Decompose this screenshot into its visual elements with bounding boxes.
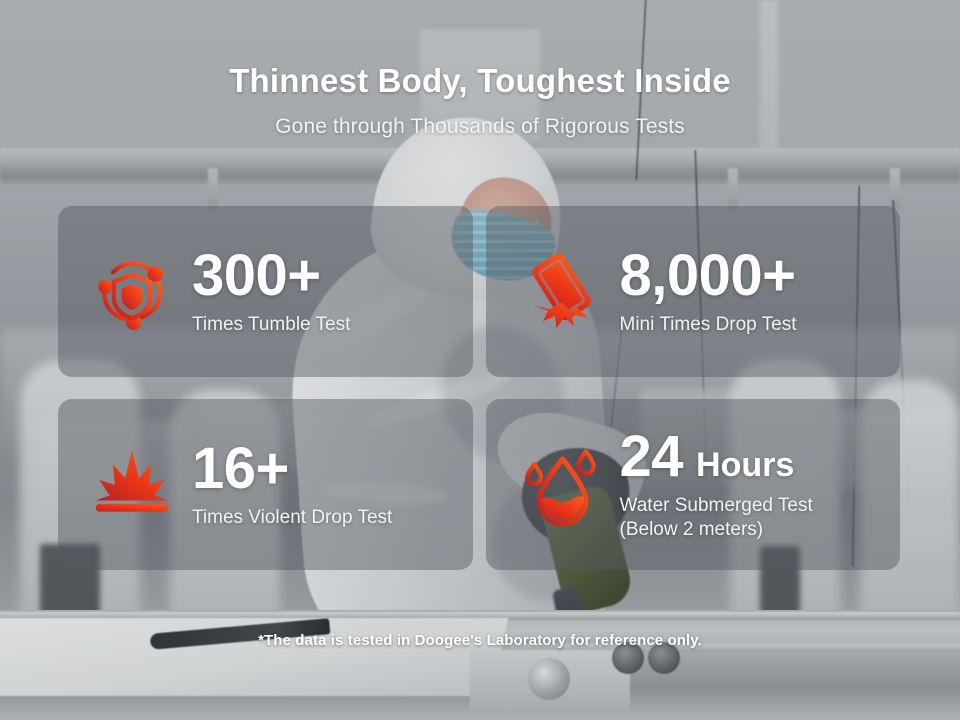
stat-card-violent-drop-test: 16+ Times Violent Drop Test <box>58 399 473 570</box>
stat-text: 16+ Times Violent Drop Test <box>192 439 392 530</box>
water-drop-icon <box>512 437 608 533</box>
stat-value: 24 <box>620 427 684 487</box>
stat-value: 300+ <box>192 246 321 306</box>
stat-card-mini-drop-test: 8,000+ Mini Times Drop Test <box>486 206 901 377</box>
stat-unit: Hours <box>696 446 794 485</box>
stat-value: 16+ <box>192 439 289 499</box>
stat-label-note: (Below 2 meters) <box>620 518 813 542</box>
stat-label: Times Tumble Test <box>192 313 350 337</box>
stats-grid: 300+ Times Tumble Test <box>58 206 900 570</box>
stat-label: Mini Times Drop Test <box>620 313 797 337</box>
stat-label: Water Submerged Test <box>620 494 813 518</box>
stat-text: 8,000+ Mini Times Drop Test <box>620 246 797 337</box>
stat-value: 8,000+ <box>620 246 796 306</box>
stat-text: 24 Hours Water Submerged Test (Below 2 m… <box>620 427 813 542</box>
stat-label: Times Violent Drop Test <box>192 506 392 530</box>
stat-card-tumble-test: 300+ Times Tumble Test <box>58 206 473 377</box>
banner-content: Thinnest Body, Toughest Inside Gone thro… <box>0 0 960 720</box>
stat-text: 300+ Times Tumble Test <box>192 246 350 337</box>
impact-burst-icon <box>84 437 180 533</box>
stat-card-water-submerged-test: 24 Hours Water Submerged Test (Below 2 m… <box>486 399 901 570</box>
page-subtitle: Gone through Thousands of Rigorous Tests <box>0 115 960 139</box>
phone-drop-impact-icon <box>512 244 608 340</box>
page-title: Thinnest Body, Toughest Inside <box>0 62 960 100</box>
shield-orbit-icon <box>84 244 180 340</box>
footnote-disclaimer: *The data is tested in Doogee's Laborato… <box>0 632 960 649</box>
